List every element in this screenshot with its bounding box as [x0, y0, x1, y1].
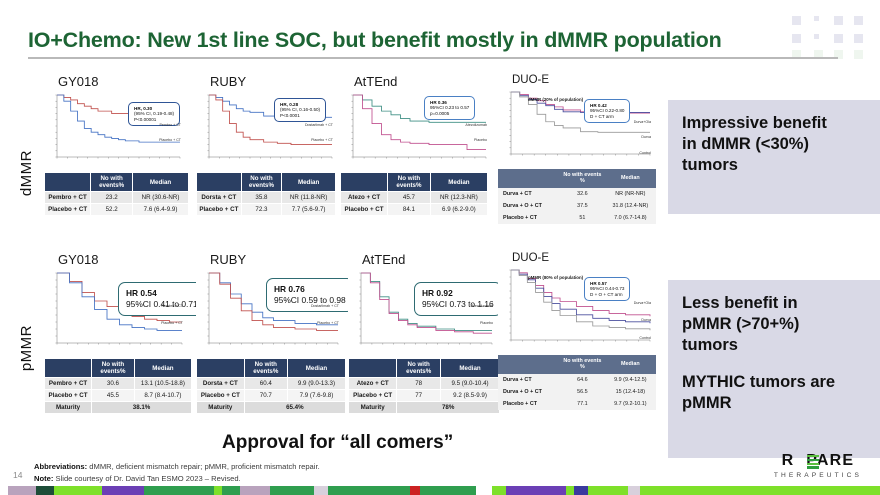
curve-label: Control [639, 151, 651, 155]
table-header-cell: Median [282, 173, 336, 192]
repare-logo: REPARE THERAPEUTICS [774, 452, 862, 479]
table-header-cell: No with events % [560, 355, 605, 374]
table-header-row: No with events %Median [498, 355, 656, 374]
table-row: Durva + O + CT37.531.8 (12.4-NR) [498, 200, 656, 212]
approval-caption: Approval for “all comers” [222, 432, 453, 454]
table-header-cell: Median [287, 359, 345, 378]
table-cell: 7.7 (5.6-9.7) [282, 204, 336, 216]
bottom-bar-segment [54, 486, 102, 495]
hr-text-line: P<0.00001 [134, 117, 174, 122]
table-header-cell: No with events% [244, 359, 287, 378]
maturity-value: 78% [397, 402, 500, 414]
table-row: Placebo + CT779.2 (8.5-9.9) [349, 390, 500, 402]
table-header-cell [498, 169, 560, 188]
table-cell: 51 [560, 212, 605, 224]
table-cell: 9.9 (9.0-13.3) [287, 378, 345, 390]
footnote-abbreviations: Abbreviations: dMMR, deficient mismatch … [34, 461, 320, 473]
table-cell: 52.2 [91, 204, 133, 216]
table-header-cell: Median [430, 173, 487, 192]
results-table: No with events%MedianPembro + CT30.613.1… [44, 358, 192, 414]
population-note: pMMR (80% of population) [528, 275, 583, 280]
table-cell: 35.8 [241, 192, 282, 204]
bottom-bar-segment [36, 486, 54, 495]
table-header-cell [341, 173, 388, 192]
km-curve-chart: pMMR (80% of population)HR 0.5795%CI 0.4… [498, 265, 654, 351]
table-cell: 77.1 [560, 398, 605, 410]
table-header-cell: No with events% [92, 359, 135, 378]
page-title: IO+Chemo: New 1st line SOC, but benefit … [28, 28, 828, 53]
hr-text-line: p=0.0005 [430, 111, 469, 116]
footnotes: Abbreviations: dMMR, deficient mismatch … [34, 461, 320, 485]
table-header-cell: Median [134, 359, 191, 378]
callout-line: Less benefit in [682, 293, 880, 314]
panel-title: AtTEnd [354, 74, 492, 89]
table-cell: 15 (12.4-18) [605, 386, 656, 398]
table-header-row: No with events%Median [349, 359, 500, 378]
hr-text-line: HR 0.92 [422, 288, 494, 299]
table-cell: Placebo + CT [341, 204, 388, 216]
table-row: Pembro + CT23.2NR (30.6-NR) [45, 192, 189, 204]
results-table: No with events%MedianAtezo + CT45.7NR (1… [340, 172, 488, 216]
table-header-cell: Median [133, 173, 189, 192]
table-header-row: No with events%Median [45, 173, 189, 192]
panel-title: RUBY [210, 252, 342, 267]
callout-line: pMMR [682, 393, 880, 414]
bottom-bar-segment [640, 486, 880, 495]
maturity-value: 65.4% [244, 402, 345, 414]
panel-title: AtTEnd [362, 252, 498, 267]
panel-duo-e-dmmr: DUO-EdMMR (20% of population)HR 0.4295%C… [498, 74, 658, 224]
table-cell: Placebo + CT [45, 204, 91, 216]
table-row: Dorsta + CT60.49.9 (9.0-13.3) [197, 378, 346, 390]
maturity-label: Maturity [45, 402, 92, 414]
table-row: Placebo + CT45.58.7 (8.4-10.7) [45, 390, 192, 402]
panel-attend-pmmr: AtTEndHR 0.9295%CI 0.73 to 1.16Atezolizu… [348, 252, 498, 414]
table-cell: 13.1 (10.5-18.8) [134, 378, 191, 390]
table-header-cell [498, 355, 560, 374]
panel-ruby-pmmr: RUBYHR 0.7695%CI 0.59 to 0.98Dostarlimab… [196, 252, 342, 414]
bottom-bar-segment [0, 486, 8, 495]
panel-title: RUBY [210, 74, 336, 89]
table-cell: NR (11.8-NR) [282, 192, 336, 204]
table-header-cell [45, 173, 91, 192]
panel-title: DUO-E [512, 74, 658, 86]
table-cell: Atezo + CT [341, 192, 388, 204]
hazard-ratio-box: HR, 0.28(95% CI, 0.16-0.50)P<0.0001 [274, 98, 326, 122]
bottom-bar-segment [476, 486, 492, 495]
table-row: Durva + O + CT56.515 (12.4-18) [498, 386, 656, 398]
km-curve-chart: HR 0.5495%CI 0.41 to 0.71Pembro + CTPlac… [44, 268, 186, 354]
callout-line: in dMMR (<30%) [682, 134, 880, 155]
table-cell: 37.5 [560, 200, 605, 212]
table-maturity-row: Maturity65.4% [197, 402, 346, 414]
bottom-bar-segment [420, 486, 476, 495]
hazard-ratio-box: HR 0.5795%CI 0.44-0.73D + O + CT arm [584, 277, 630, 301]
table-cell: 7.0 (6.7-14.8) [605, 212, 656, 224]
bottom-bar-segment [222, 486, 240, 495]
curve-label: Control [639, 336, 651, 340]
table-cell: Pembro + CT [45, 378, 92, 390]
results-table: No with events%MedianPembro + CT23.2NR (… [44, 172, 189, 216]
panel-gy018-pmmr: GY018HR 0.5495%CI 0.41 to 0.71Pembro + C… [44, 252, 194, 414]
bottom-bar-segment [314, 486, 328, 495]
curve-label: Placebo + CT [159, 138, 181, 142]
callout-line: tumors [682, 335, 880, 356]
table-row: Dorsta + CT35.8NR (11.8-NR) [197, 192, 336, 204]
title-block: IO+Chemo: New 1st line SOC, but benefit … [28, 28, 828, 59]
km-curve-chart: dMMR (20% of population)HR 0.4295%CI 0.2… [498, 87, 654, 165]
table-cell: 32.6 [560, 188, 605, 200]
results-table: No with events %MedianDurva + CT32.6NR (… [498, 169, 656, 224]
table-row: Durva + CT32.6NR (NR-NR) [498, 188, 656, 200]
table-cell: NR (NR-NR) [605, 188, 656, 200]
table-header-cell [197, 173, 242, 192]
results-table: No with events%MedianDorsta + CT35.8NR (… [196, 172, 336, 216]
table-cell: Placebo + CT [45, 390, 92, 402]
km-curve-chart: HR 0.7695%CI 0.59 to 0.98Dostarlimab + C… [196, 268, 342, 354]
footnote-note: Note: Slide courtesy of Dr. David Tan ES… [34, 473, 320, 485]
hazard-ratio-box: HR 0.3695%CI 0.23 to 0.57p=0.0005 [424, 96, 475, 120]
table-cell: 84.1 [388, 204, 431, 216]
callout-line: Impressive benefit [682, 113, 880, 134]
bottom-bar-segment [566, 486, 574, 495]
hr-text-line: HR 0.76 [274, 284, 346, 295]
callout-dmmr-benefit: Impressive benefit in dMMR (<30%) tumors [668, 100, 880, 214]
table-cell: Placebo + CT [498, 212, 560, 224]
table-cell: Dorsta + CT [197, 378, 245, 390]
curve-label: Durva+Ola [634, 120, 651, 124]
table-cell: Durva + CT [498, 188, 560, 200]
table-cell: 9.2 (8.5-9.9) [441, 390, 500, 402]
table-cell: NR (12.3-NR) [430, 192, 487, 204]
table-cell: Placebo + CT [349, 390, 397, 402]
table-cell: Pembro + CT [45, 192, 91, 204]
hr-text-line: HR 0.54 [126, 288, 198, 299]
bottom-bar-segment [8, 486, 36, 495]
callout-line: MYTHIC tumors are [682, 372, 880, 393]
km-curve-chart: HR 0.9295%CI 0.73 to 1.16AtezolizumabPla… [348, 268, 496, 354]
table-cell: Atezo + CT [349, 378, 397, 390]
panel-ruby-dmmr: RUBYHR, 0.28(95% CI, 0.16-0.50)P<0.0001D… [196, 74, 336, 216]
table-cell: Placebo + CT [197, 390, 245, 402]
hazard-ratio-box: HR 0.7695%CI 0.59 to 0.98 [266, 278, 354, 312]
panel-title: DUO-E [512, 252, 658, 264]
footnote-abbrev-text: dMMR, deficient mismatch repair; pMMR, p… [87, 462, 320, 471]
curve-label: Dostarlimab + CT [305, 123, 333, 127]
curve-label: Dostarlimab + CT [311, 304, 339, 308]
results-table: No with events %MedianDurva + CT64.69.9 … [498, 355, 656, 410]
table-cell: Dorsta + CT [197, 192, 242, 204]
table-header-cell: No with events % [560, 169, 605, 188]
table-cell: 45.7 [388, 192, 431, 204]
table-header-cell: Median [441, 359, 500, 378]
logo-word-pre: R [782, 452, 795, 469]
table-cell: 23.2 [91, 192, 133, 204]
table-cell: 78 [397, 378, 441, 390]
results-table: No with events%MedianDorsta + CT60.49.9 … [196, 358, 346, 414]
table-cell: 6.9 (6.2-9.0) [430, 204, 487, 216]
table-header-cell: Median [605, 355, 656, 374]
table-header-cell: No with events% [241, 173, 282, 192]
bottom-bar-segment [628, 486, 640, 495]
table-header-cell: No with events% [388, 173, 431, 192]
curve-label: Placebo [474, 138, 487, 142]
bottom-bar-segment [328, 486, 410, 495]
curve-label: Placebo + CT [317, 321, 339, 325]
table-cell: 7.9 (7.6-9.8) [287, 390, 345, 402]
table-header-row: No with events%Median [45, 359, 192, 378]
bottom-color-bar [0, 486, 880, 495]
table-cell: NR (30.6-NR) [133, 192, 189, 204]
table-header-row: No with events%Median [341, 173, 488, 192]
panel-attend-dmmr: AtTEndHR 0.3695%CI 0.23 to 0.57p=0.0005A… [340, 74, 492, 216]
table-cell: Durva + CT [498, 374, 560, 386]
table-header-row: No with events%Median [197, 173, 336, 192]
table-header-cell [45, 359, 92, 378]
panel-title: GY018 [58, 74, 194, 89]
table-row: Placebo + CT72.37.7 (5.6-9.7) [197, 204, 336, 216]
table-row: Placebo + CT84.16.9 (6.2-9.0) [341, 204, 488, 216]
curve-label: Placebo + CT [161, 321, 183, 325]
curve-label: Atezolizumab [465, 123, 487, 127]
hazard-ratio-box: HR 0.9295%CI 0.73 to 1.16 [414, 282, 502, 316]
table-row: Atezo + CT45.7NR (12.3-NR) [341, 192, 488, 204]
row-label-pmmr: pMMR [18, 325, 38, 371]
table-cell: 45.5 [92, 390, 135, 402]
table-row: Durva + CT64.69.9 (9.4-12.5) [498, 374, 656, 386]
table-cell: 9.7 (9.2-10.1) [605, 398, 656, 410]
table-cell: 64.6 [560, 374, 605, 386]
hazard-ratio-box: HR 0.5495%CI 0.41 to 0.71 [118, 282, 206, 316]
hazard-ratio-box: HR 0.4295%CI 0.22-0.80D + CT arm [584, 99, 630, 123]
table-maturity-row: Maturity38.1% [45, 402, 192, 414]
maturity-value: 38.1% [92, 402, 192, 414]
logo-subtitle: THERAPEUTICS [774, 472, 862, 479]
table-row: Placebo + CT52.27.6 (6.4-9.9) [45, 204, 189, 216]
table-cell: 77 [397, 390, 441, 402]
table-cell: 30.6 [92, 378, 135, 390]
table-cell: 7.6 (6.4-9.9) [133, 204, 189, 216]
bottom-bar-segment [588, 486, 628, 495]
callout-line: tumors [682, 155, 880, 176]
table-cell: 8.7 (8.4-10.7) [134, 390, 191, 402]
maturity-label: Maturity [349, 402, 397, 414]
population-note: dMMR (20% of population) [528, 97, 583, 102]
results-table: No with events%MedianAtezo + CT789.5 (9.… [348, 358, 500, 414]
bottom-bar-segment [574, 486, 588, 495]
bottom-bar-segment [144, 486, 214, 495]
title-divider [28, 57, 838, 59]
hr-text-line: D + O + CT arm [590, 292, 624, 297]
row-label-dmmr: dMMR [18, 150, 38, 196]
km-curve-chart: HR 0.3695%CI 0.23 to 0.57p=0.0005Atezoli… [340, 90, 490, 168]
table-header-cell: No with events% [397, 359, 441, 378]
maturity-label: Maturity [197, 402, 245, 414]
bottom-bar-segment [214, 486, 222, 495]
km-curve-chart: HR, 0.28(95% CI, 0.16-0.50)P<0.0001Dosta… [196, 90, 336, 168]
table-header-cell: No with events% [91, 173, 133, 192]
table-cell: Placebo + CT [197, 204, 242, 216]
table-row: Placebo + CT77.19.7 (9.2-10.1) [498, 398, 656, 410]
table-maturity-row: Maturity78% [349, 402, 500, 414]
bottom-bar-segment [240, 486, 270, 495]
curve-label: Durva [641, 135, 651, 139]
panel-title: GY018 [58, 252, 194, 267]
curve-label: Durva+Ola [634, 301, 651, 305]
table-header-cell [197, 359, 245, 378]
curve-label: Durva [641, 318, 651, 322]
hr-text-line: D + CT arm [590, 114, 624, 119]
table-cell: 31.8 (12.4-NR) [605, 200, 656, 212]
curve-label: Pembro + CT [162, 304, 183, 308]
callout-pmmr-benefit: Less benefit in pMMR (>70+%) tumors MYTH… [668, 280, 880, 458]
callout-line: pMMR (>70+%) [682, 314, 880, 335]
table-cell: 9.9 (9.4-12.5) [605, 374, 656, 386]
footnote-abbrev-label: Abbreviations: [34, 462, 87, 471]
footnote-note-text: Slide courtesy of Dr. David Tan ESMO 202… [53, 474, 240, 483]
bottom-bar-segment [492, 486, 506, 495]
table-row: Placebo + CT517.0 (6.7-14.8) [498, 212, 656, 224]
bottom-bar-segment [506, 486, 566, 495]
curve-label: Placebo [480, 321, 493, 325]
bottom-bar-segment [410, 486, 420, 495]
bottom-bar-segment [102, 486, 144, 495]
panel-duo-e-pmmr: DUO-EpMMR (80% of population)HR 0.5795%C… [498, 252, 658, 410]
hr-text-line: P<0.0001 [280, 113, 320, 118]
logo-bars-icon [807, 455, 819, 468]
table-row: Atezo + CT789.5 (9.0-10.4) [349, 378, 500, 390]
table-cell: 70.7 [244, 390, 287, 402]
footnote-note-label: Note: [34, 474, 53, 483]
table-cell: 9.5 (9.0-10.4) [441, 378, 500, 390]
table-cell: Placebo + CT [498, 398, 560, 410]
curve-label: Placebo + CT [311, 138, 333, 142]
curve-label: Pembro + CT [160, 123, 181, 127]
table-row: Placebo + CT70.77.9 (7.6-9.8) [197, 390, 346, 402]
table-cell: 72.3 [241, 204, 282, 216]
table-cell: 60.4 [244, 378, 287, 390]
table-row: Pembro + CT30.613.1 (10.5-18.8) [45, 378, 192, 390]
table-cell: Durva + O + CT [498, 200, 560, 212]
logo-wordmark: REPARE [782, 452, 855, 470]
table-cell: Durva + O + CT [498, 386, 560, 398]
panel-gy018-dmmr: GY018HR, 0.30(95% CI, 0.19-0.48)P<0.0000… [44, 74, 194, 216]
km-curve-chart: HR, 0.30(95% CI, 0.19-0.48)P<0.00001Pemb… [44, 90, 184, 168]
curve-label: Atezolizumab [471, 304, 493, 308]
table-header-cell: Median [605, 169, 656, 188]
table-header-row: No with events %Median [498, 169, 656, 188]
table-cell: 56.5 [560, 386, 605, 398]
table-header-cell [349, 359, 397, 378]
bottom-bar-segment [270, 486, 314, 495]
table-header-row: No with events%Median [197, 359, 346, 378]
page-number: 14 [13, 470, 22, 480]
